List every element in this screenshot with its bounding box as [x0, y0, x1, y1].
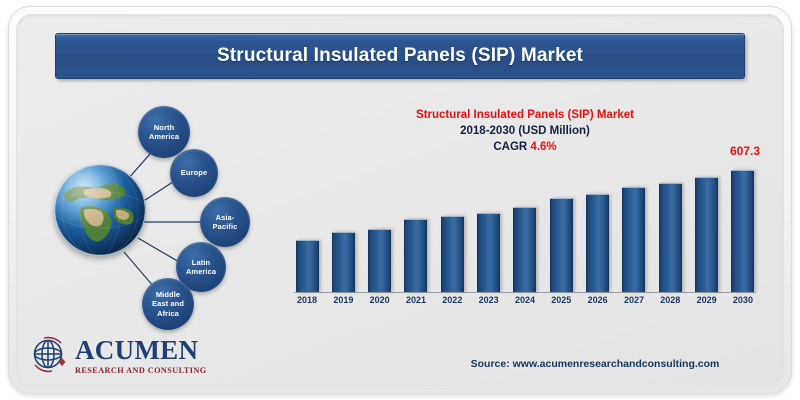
logo-wordmark: ACUMEN	[75, 337, 207, 364]
bar-column-2027[interactable]	[621, 170, 647, 292]
bar-column-2023[interactable]	[476, 170, 502, 292]
region-label-middle-east-africa: Middle East and Africa	[152, 290, 184, 317]
chart-plot-area: 2018201920202021202220232024202520262027…	[290, 170, 760, 315]
bar-2026[interactable]	[586, 194, 609, 292]
bar-2022[interactable]	[441, 216, 464, 292]
bar-column-2020[interactable]	[367, 170, 393, 292]
bar-column-2022[interactable]	[439, 170, 465, 292]
brand-logo: ACUMEN RESEARCH AND CONSULTING	[28, 330, 238, 382]
bar-2023[interactable]	[477, 213, 500, 292]
bar-2030[interactable]	[731, 170, 754, 292]
cagr-value: 4.6%	[530, 141, 556, 153]
bar-2025[interactable]	[550, 198, 573, 292]
bar-2021[interactable]	[404, 219, 427, 292]
page-title: Structural Insulated Panels (SIP) Market	[217, 45, 583, 67]
x-tick-2029: 2029	[694, 295, 720, 313]
x-tick-2020: 2020	[367, 295, 393, 313]
bar-column-2024[interactable]	[512, 170, 538, 292]
chart-title-line1: Structural Insulated Panels (SIP) Market	[290, 108, 760, 124]
region-label-asia-pacific: Asia- Pacific	[213, 213, 238, 231]
bar-column-2018[interactable]	[294, 170, 320, 292]
x-axis-tick-labels: 2018201920202021202220232024202520262027…	[294, 295, 756, 313]
cagr-label: CAGR	[493, 141, 530, 153]
x-tick-2022: 2022	[439, 295, 465, 313]
bar-column-2029[interactable]	[694, 170, 720, 292]
x-tick-2024: 2024	[512, 295, 538, 313]
region-label-latin-america: Latin America	[186, 258, 216, 276]
chart-title-line2: 2018-2030 (USD Million)	[290, 124, 760, 140]
x-tick-2030: 2030	[730, 295, 756, 313]
bar-column-2030[interactable]	[730, 170, 756, 292]
x-tick-2021: 2021	[403, 295, 429, 313]
region-node-europe[interactable]: Europe	[170, 149, 218, 197]
bar-2019[interactable]	[332, 232, 355, 292]
region-label-north-america: North America	[149, 123, 179, 141]
acumen-globe-logo-icon	[28, 334, 72, 378]
x-tick-2025: 2025	[548, 295, 574, 313]
x-tick-2026: 2026	[585, 295, 611, 313]
market-chart: Structural Insulated Panels (SIP) Market…	[290, 108, 760, 328]
region-node-asia-pacific[interactable]: Asia- Pacific	[200, 197, 250, 247]
bar-column-2028[interactable]	[657, 170, 683, 292]
bar-column-2025[interactable]	[548, 170, 574, 292]
infographic-root: Structural Insulated Panels (SIP) Market	[0, 0, 800, 400]
region-node-middle-east-africa[interactable]: Middle East and Africa	[142, 278, 194, 330]
x-axis-line	[294, 292, 756, 293]
bar-value-label-2030: 607.3	[730, 144, 760, 158]
region-node-north-america[interactable]: North America	[138, 106, 190, 158]
bar-2029[interactable]	[695, 177, 718, 292]
bar-2018[interactable]	[296, 240, 319, 292]
bar-2028[interactable]	[659, 183, 682, 292]
bar-2020[interactable]	[368, 229, 391, 292]
bar-2024[interactable]	[513, 207, 536, 292]
x-tick-2018: 2018	[294, 295, 320, 313]
logo-tagline: RESEARCH AND CONSULTING	[75, 366, 207, 375]
world-globe-icon	[54, 164, 146, 256]
bar-column-2021[interactable]	[403, 170, 429, 292]
x-tick-2028: 2028	[657, 295, 683, 313]
region-label-europe: Europe	[181, 168, 207, 177]
chart-title-block: Structural Insulated Panels (SIP) Market…	[290, 108, 760, 156]
chart-cagr-line: CAGR 4.6%	[290, 140, 760, 156]
regions-diagram: North America Europe Asia- Pacific Latin…	[24, 96, 274, 336]
x-tick-2023: 2023	[476, 295, 502, 313]
header-banner: Structural Insulated Panels (SIP) Market	[55, 33, 745, 79]
logo-text-block: ACUMEN RESEARCH AND CONSULTING	[75, 337, 207, 375]
bar-column-2019[interactable]	[330, 170, 356, 292]
x-tick-2019: 2019	[330, 295, 356, 313]
source-text: Source: www.acumenresearchandconsulting.…	[440, 358, 750, 370]
x-tick-2027: 2027	[621, 295, 647, 313]
bar-2027[interactable]	[622, 187, 645, 292]
bar-series	[294, 170, 756, 292]
bar-column-2026[interactable]	[585, 170, 611, 292]
